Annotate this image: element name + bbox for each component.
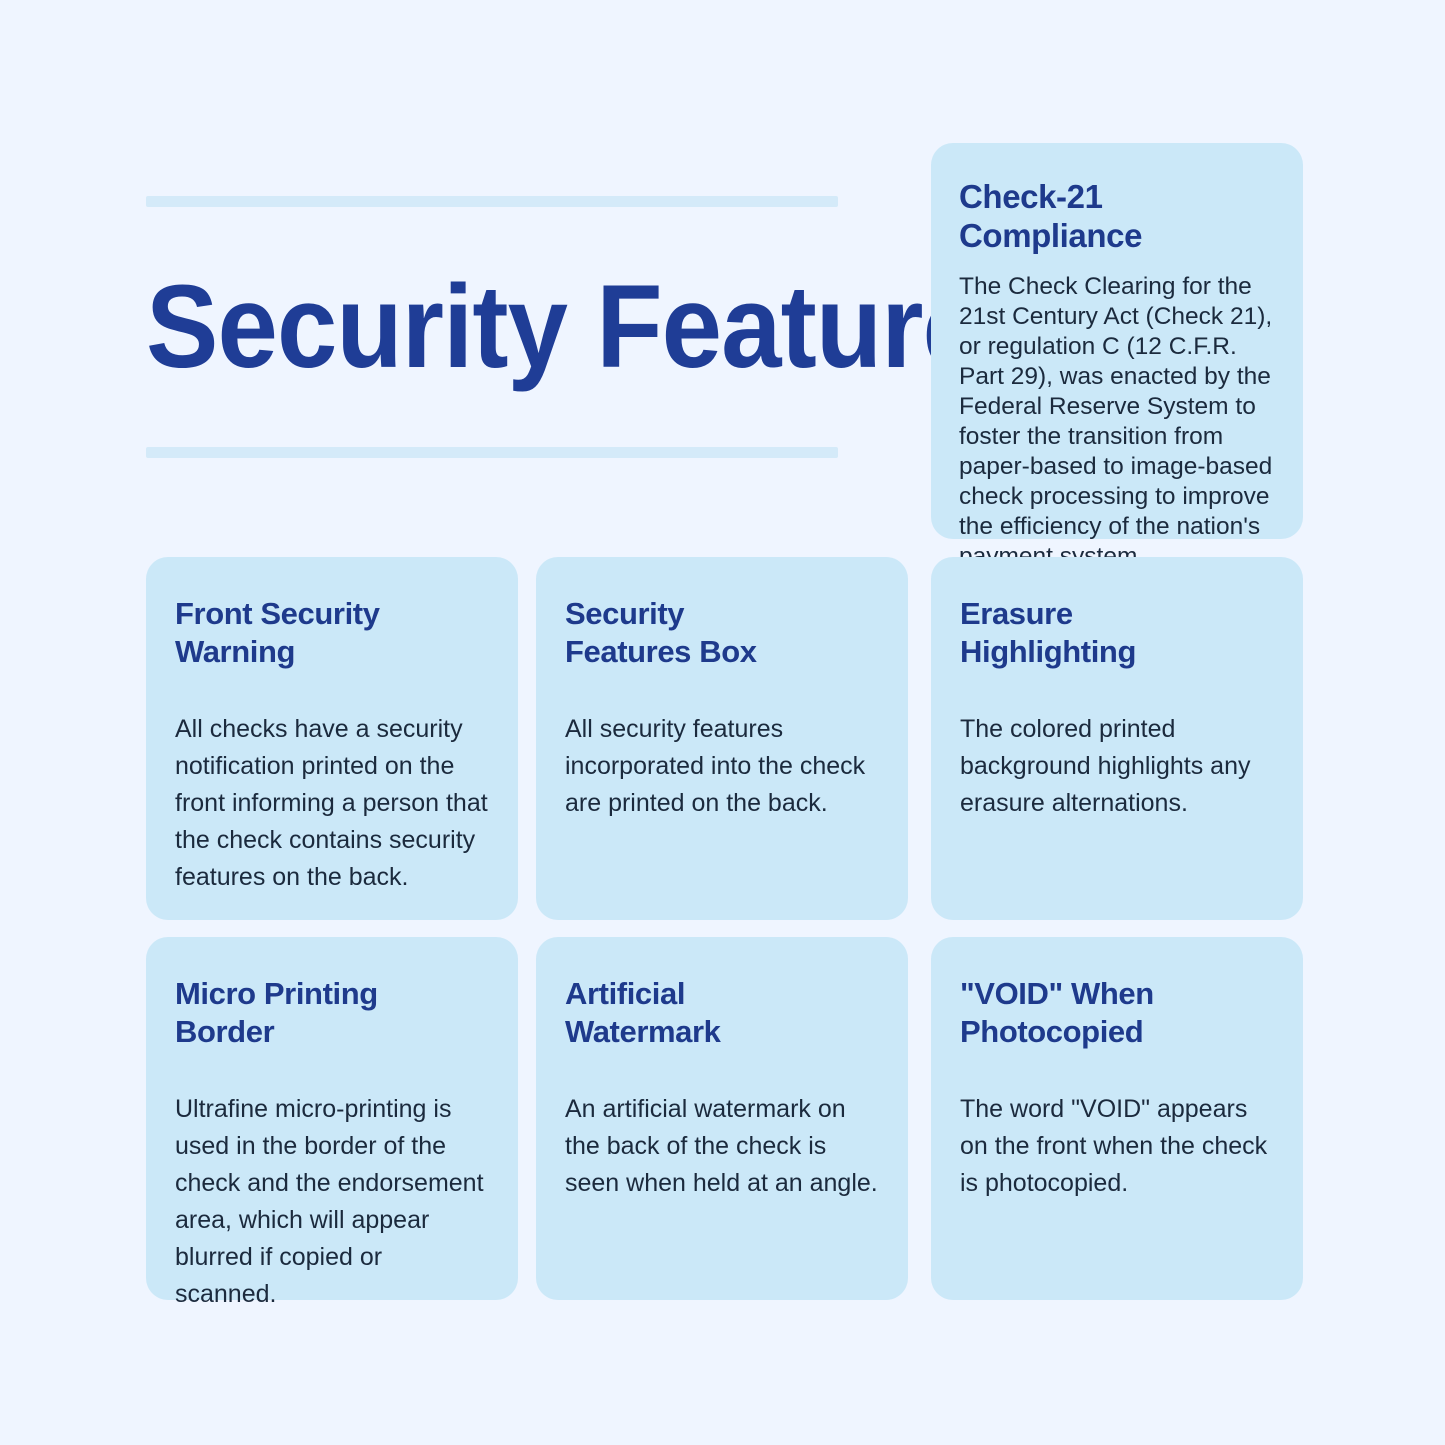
card-check-21-compliance: Check-21 Compliance The Check Clearing f… xyxy=(931,143,1303,539)
card-body: The word "VOID" appears on the front whe… xyxy=(960,1091,1273,1202)
card-heading: Micro Printing Border xyxy=(175,975,488,1051)
title-block: Security Features xyxy=(146,196,838,458)
page-title: Security Features xyxy=(146,207,783,447)
title-divider-bottom xyxy=(146,447,838,458)
card-micro-printing-border: Micro Printing Border Ultrafine micro-pr… xyxy=(146,937,518,1300)
card-body: The Check Clearing for the 21st Century … xyxy=(959,272,1275,572)
card-heading: Security Features Box xyxy=(565,595,878,671)
card-body: All checks have a security notification … xyxy=(175,711,488,896)
card-void-when-photocopied: "VOID" When Photocopied The word "VOID" … xyxy=(931,937,1303,1300)
card-body: Ultrafine micro-printing is used in the … xyxy=(175,1091,488,1313)
card-heading: Front Security Warning xyxy=(175,595,488,671)
card-front-security-warning: Front Security Warning All checks have a… xyxy=(146,557,518,920)
card-body: The colored printed background highlight… xyxy=(960,711,1273,822)
card-heading: "VOID" When Photocopied xyxy=(960,975,1273,1051)
infographic-page: Security Features Check-21 Compliance Th… xyxy=(0,0,1445,1445)
card-body: All security features incorporated into … xyxy=(565,711,878,822)
title-divider-top xyxy=(146,196,838,207)
card-security-features-box: Security Features Box All security featu… xyxy=(536,557,908,920)
card-heading: Check-21 Compliance xyxy=(959,177,1275,255)
card-artificial-watermark: Artificial Watermark An artificial water… xyxy=(536,937,908,1300)
card-heading: Artificial Watermark xyxy=(565,975,878,1051)
card-heading: Erasure Highlighting xyxy=(960,595,1273,671)
card-erasure-highlighting: Erasure Highlighting The colored printed… xyxy=(931,557,1303,920)
card-body: An artificial watermark on the back of t… xyxy=(565,1091,878,1202)
